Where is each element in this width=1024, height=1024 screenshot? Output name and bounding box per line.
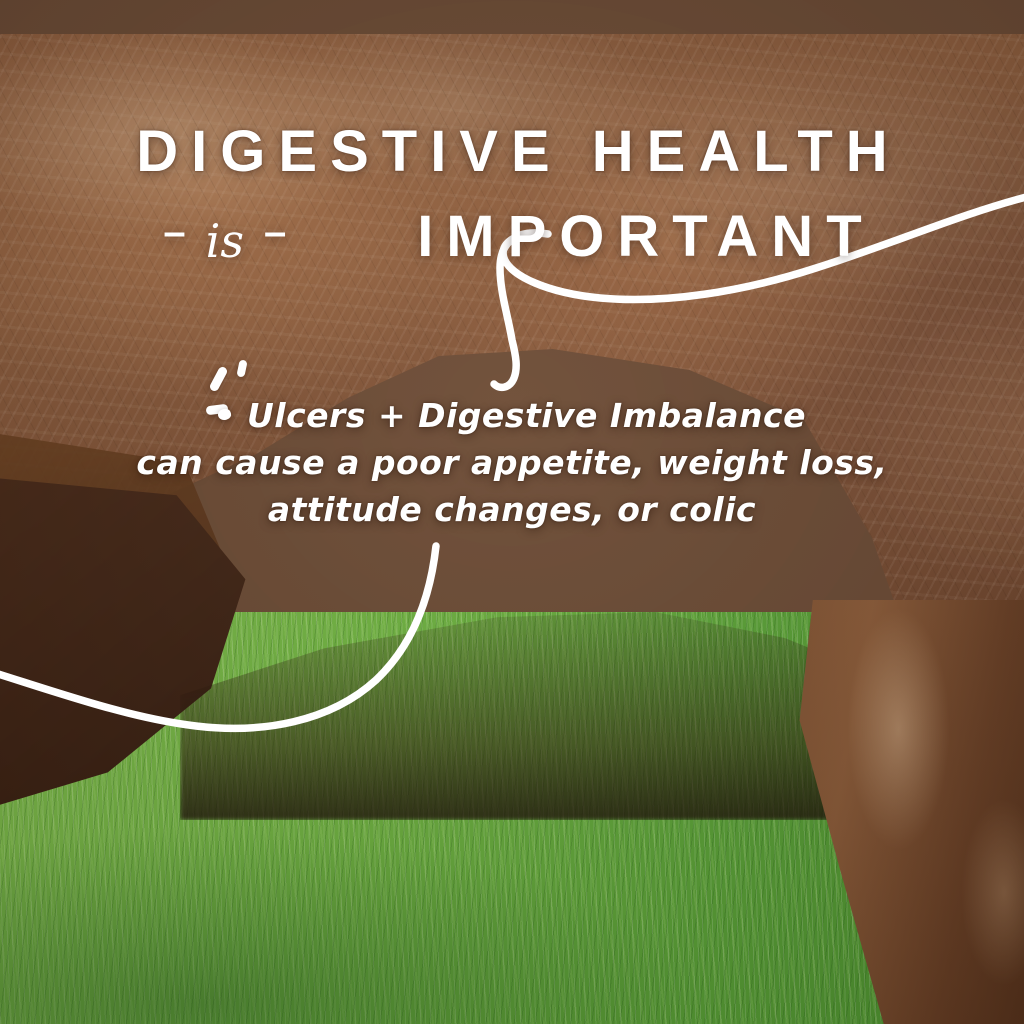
- poster-canvas: DIGESTIVE HEALTH – is – IMPORTANT Ulcers…: [0, 0, 1024, 1024]
- accent-tick-icon-1: [208, 365, 228, 392]
- yellow-brand-bar: [0, 33, 1024, 44]
- text-content-layer: DIGESTIVE HEALTH – is – IMPORTANT Ulcers…: [0, 0, 1024, 1024]
- dash-left: –: [149, 210, 199, 255]
- body-line-1-text: Ulcers + Digestive Imbalance: [247, 396, 806, 435]
- headline-line-1: DIGESTIVE HEALTH: [0, 118, 1024, 185]
- dash-right: –: [250, 210, 300, 255]
- body-line-3: attitude changes, or colic: [0, 490, 1024, 529]
- accent-tick-icon-2: [236, 359, 247, 377]
- brand-bar-group: [0, 0, 1024, 44]
- body-line-2: can cause a poor appetite, weight loss,: [0, 443, 1024, 482]
- headline-line-2: – is – IMPORTANT: [0, 203, 1024, 270]
- headline-is-word: is: [200, 214, 250, 268]
- green-brand-bar: [0, 0, 1024, 33]
- bullet-point-icon: [217, 407, 233, 421]
- headline-emphasis: IMPORTANT: [404, 203, 874, 270]
- body-line-1: Ulcers + Digestive Imbalance: [0, 396, 1024, 435]
